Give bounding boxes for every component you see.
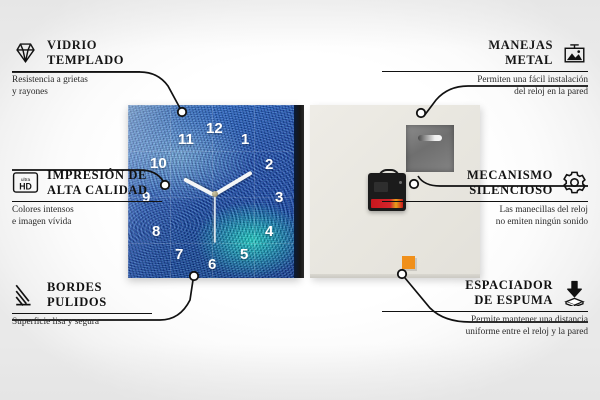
feature-subtitle: Permite mantener una distanciauniforme e… xyxy=(382,315,588,339)
clock-numeral-3: 3 xyxy=(275,190,283,205)
feature-title: VIDRIOTEMPLADO xyxy=(47,38,124,68)
feature-title: MANEJASMETAL xyxy=(488,38,553,68)
feature-subtitle: Superficie lisa y segura xyxy=(12,317,218,329)
picture-hanger-icon xyxy=(561,39,588,66)
diamond-icon xyxy=(12,39,39,66)
feature-manejas-metal: MANEJASMETAL Permiten una fácil instalac… xyxy=(382,38,588,99)
feature-impresion-alta-calidad: ultra HD IMPRESIÓN DEALTA CALIDAD Colore… xyxy=(12,168,218,229)
clock-numeral-12: 12 xyxy=(206,121,223,136)
metal-hanger-plate xyxy=(406,125,454,172)
feature-subtitle: Resistencia a grietasy rayones xyxy=(12,75,218,99)
hanger-slot xyxy=(418,135,442,141)
foam-spacer xyxy=(402,256,415,269)
clock-numeral-7: 7 xyxy=(175,247,183,262)
clock-numeral-5: 5 xyxy=(240,247,248,262)
clock-numeral-11: 11 xyxy=(178,132,194,147)
clock-numeral-6: 6 xyxy=(208,257,216,272)
feature-mecanismo-silencioso: MECANISMOSILENCIOSO Las manecillas del r… xyxy=(382,168,588,229)
svg-text:HD: HD xyxy=(19,182,32,192)
feature-title: ESPACIADORDE ESPUMA xyxy=(465,278,553,308)
feature-title: BORDESPULIDOS xyxy=(47,280,107,310)
feature-divider xyxy=(382,71,588,73)
feature-bordes-pulidos: BORDESPULIDOS Superficie lisa y segura xyxy=(12,280,218,329)
feature-vidrio-templado: VIDRIOTEMPLADO Resistencia a grietasy ra… xyxy=(12,38,218,99)
gear-icon xyxy=(561,169,588,196)
feature-subtitle: Las manecillas del relojno emiten ningún… xyxy=(382,205,588,229)
feature-divider xyxy=(382,201,588,203)
foam-spacer-icon xyxy=(561,279,588,306)
feature-title: IMPRESIÓN DEALTA CALIDAD xyxy=(47,168,148,198)
clock-numeral-4: 4 xyxy=(265,224,273,239)
clock-side-edge xyxy=(294,105,304,278)
feature-divider xyxy=(382,311,588,313)
ultra-hd-icon: ultra HD xyxy=(12,169,39,196)
feature-divider xyxy=(12,201,162,203)
polished-edges-icon xyxy=(12,281,39,308)
feature-title: MECANISMOSILENCIOSO xyxy=(467,168,553,198)
feature-espaciador-espuma: ESPACIADORDE ESPUMA Permite mantener una… xyxy=(382,278,588,339)
feature-divider xyxy=(12,71,140,73)
clock-numeral-1: 1 xyxy=(241,132,249,147)
feature-subtitle: Permiten una fácil instalacióndel reloj … xyxy=(382,75,588,99)
clock-numeral-2: 2 xyxy=(265,157,273,172)
feature-subtitle: Colores intensose imagen vívida xyxy=(12,205,218,229)
infographic-canvas: 12 1 2 3 4 5 6 7 8 9 10 11 xyxy=(0,0,600,400)
feature-divider xyxy=(12,313,152,315)
